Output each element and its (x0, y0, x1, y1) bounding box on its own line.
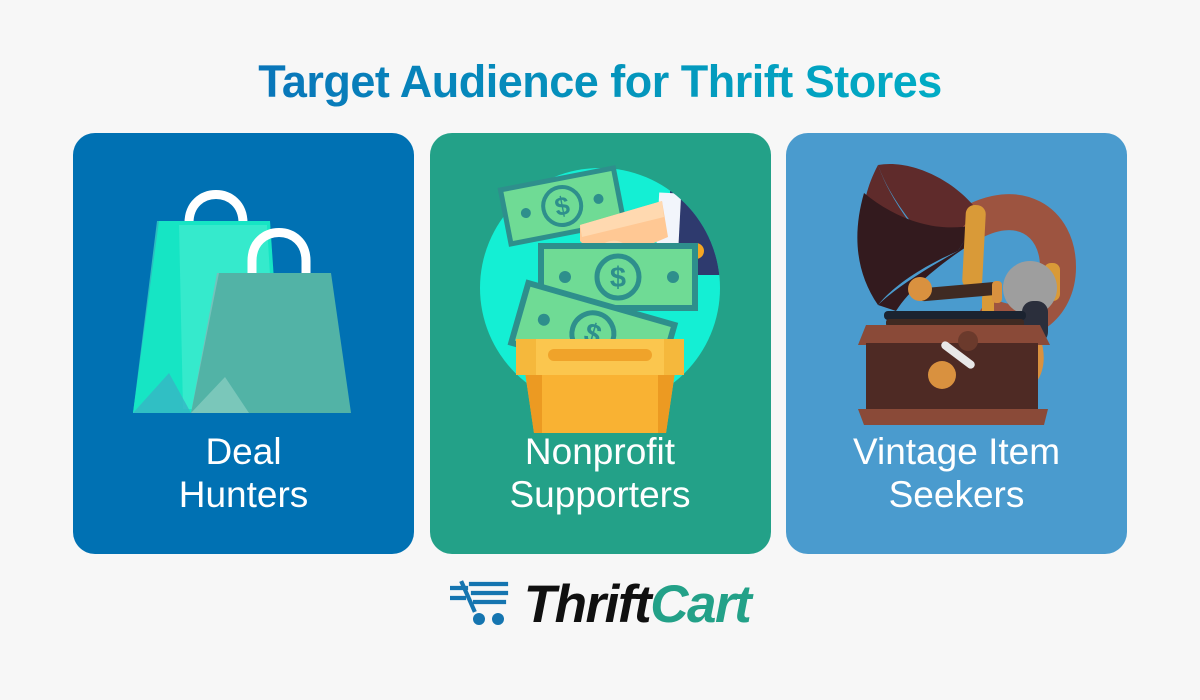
audience-card-label-line1: Vintage Item (853, 431, 1060, 472)
audience-card-label: Vintage Item Seekers (786, 430, 1127, 516)
shopping-cart-icon (450, 579, 510, 630)
brand-logo: ThriftCart (0, 578, 1200, 631)
donation-box (516, 339, 684, 433)
donation-box-with-money-icon: $ (430, 133, 771, 433)
audience-card-label-line2: Seekers (786, 473, 1127, 516)
audience-card-label-line1: Nonprofit (525, 431, 675, 472)
audience-card-label-line2: Hunters (73, 473, 414, 516)
infographic-page: Target Audience for Thrift Stores (0, 0, 1200, 700)
svg-text:$: $ (609, 262, 625, 294)
audience-card-label-line2: Supporters (430, 473, 771, 516)
shopping-bags-icon (73, 133, 414, 433)
brand-logo-text-secondary: Cart (650, 575, 750, 634)
brand-logo-text: ThriftCart (524, 578, 750, 631)
audience-card-vintage-item-seekers[interactable]: Vintage Item Seekers (786, 133, 1127, 554)
audience-card-list: Deal Hunters $ (73, 133, 1127, 554)
gramophone-icon (786, 133, 1127, 433)
audience-card-label: Deal Hunters (73, 430, 414, 516)
brand-logo-text-primary: Thrift (524, 575, 650, 634)
audience-card-deal-hunters[interactable]: Deal Hunters (73, 133, 414, 554)
audience-card-label-line1: Deal (205, 431, 281, 472)
audience-card-label: Nonprofit Supporters (430, 430, 771, 516)
audience-card-nonprofit-supporters[interactable]: $ (430, 133, 771, 554)
page-title: Target Audience for Thrift Stores (0, 56, 1200, 108)
